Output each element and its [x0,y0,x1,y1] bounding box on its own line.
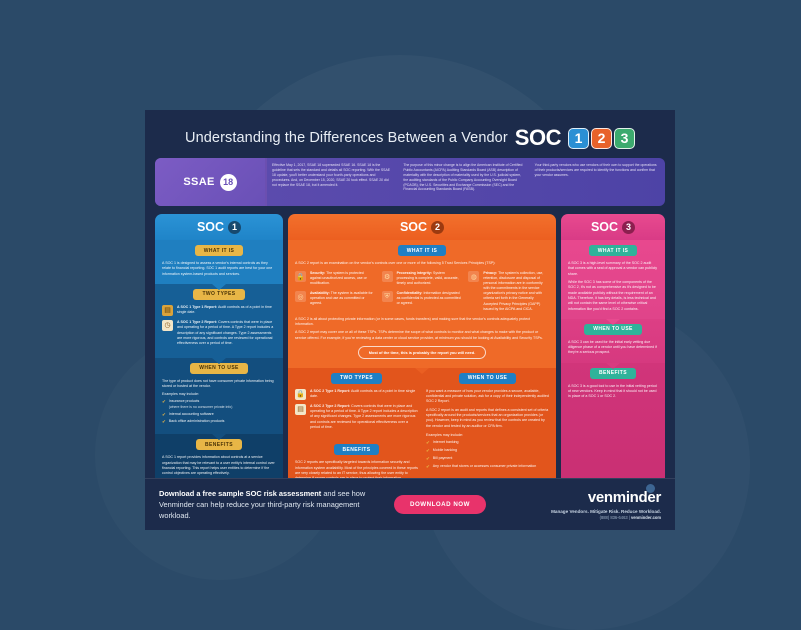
soc2-what-it-is: WHAT IT IS A SOC 2 report is an examinat… [288,240,556,368]
soc-number-badges: 1 2 3 [568,128,635,149]
soc3-when-to-use-text: A SOC 3 can be used for the initial earl… [568,340,658,356]
soc1-when-to-use-pill: WHEN TO USE [190,363,248,374]
ssae-badge: SSAE 18 [155,158,265,206]
soc1-two-types-pill: TWO TYPES [193,289,244,300]
ssae-number: 18 [220,174,237,191]
soc2-type2-title: A SOC 2 Type 2 Report: [310,404,350,408]
soc2-principles-grid: 🔒 Security: The system is protected agai… [295,271,549,311]
soc2-lower-grid: TWO TYPES 🔒 A SOC 2 Type 1 Report: Audit… [288,368,556,486]
column-soc2: SOC 2 WHAT IT IS A SOC 2 report is an ex… [288,214,556,486]
soc3-arrow-1 [606,319,620,325]
soc2-principles-col-3: ◍ Privacy: The system's collection, use,… [468,271,549,311]
ssae-label: SSAE [183,176,214,188]
column-soc3-number: 3 [622,221,635,234]
soc2-check-1-text: Internet banking [433,440,459,445]
soc2-principle-confidentiality: ⛨ Confidentiality: Information designate… [382,291,463,306]
soc2-when-to-use-pill: WHEN TO USE [459,373,517,384]
soc2-principle-confidentiality-name: Confidentiality: [397,291,423,295]
clock-document-icon: ◷ [162,320,173,331]
soc2-check-1: ✔ Internet banking [426,440,549,446]
soc2-what-it-is-pill: WHAT IT IS [398,245,447,256]
soc1-benefits-pill: BENEFITS [196,439,242,450]
soc1-what-it-is: WHAT IT IS A SOC 1 is designed to assess… [155,240,283,284]
check-icon: ✔ [426,456,430,462]
soc2-check-3-text: Bill payment [433,456,453,461]
soc3-benefits-pill: BENEFITS [590,368,636,379]
soc2-principles-col-2: ⚙ Processing Integrity: System processin… [382,271,463,311]
soc1-when-to-use-text: The type of product does not have consum… [162,379,276,390]
soc2-callout: Most of the time, this is probably the r… [358,346,487,359]
soc2-check-3: ✔ Bill payment [426,456,549,462]
check-icon: ✔ [426,448,430,454]
ssae-paragraph-1: Effective May 1, 2017, SSAE 18 supersede… [272,163,394,201]
soc1-check-1: ✔ Insurance products (where there is no … [162,399,276,409]
soc2-when-to-use-text-1: If you want a measure of how your vendor… [426,389,549,405]
soc-badge-1: 1 [568,128,589,149]
cta-text: Download a free sample SOC risk assessme… [159,488,374,521]
lock-icon: 🔒 [295,271,306,282]
soc3-benefits-text: A SOC 3 is a good tool to use in the ini… [568,384,658,400]
soc3-benefits: BENEFITS A SOC 3 is a good tool to use i… [561,363,665,486]
soc1-what-it-is-pill: WHAT IT IS [195,245,244,256]
brand-website[interactable]: venminder.com [631,515,661,520]
soc2-type1-title: A SOC 2 Type 1 Report: [310,389,350,393]
soc2-benefits: BENEFITS SOC 2 reports are specifically … [295,444,418,481]
column-soc2-header: SOC 2 [288,214,556,240]
column-soc1-number: 1 [228,221,241,234]
check-icon: ✔ [426,464,430,470]
infographic-poster: Understanding the Differences Between a … [145,110,675,530]
cta-headline: Download a free sample SOC risk assessme… [159,489,321,498]
soc1-two-types: TWO TYPES ▤ A SOC 1 Type 1 Report: Audit… [155,284,283,358]
footer-cta-bar: Download a free sample SOC risk assessme… [145,478,675,530]
soc2-principle-privacy: ◍ Privacy: The system's collection, use,… [468,271,549,311]
column-soc1-title: SOC [197,220,224,234]
soc3-what-it-is-text-1: A SOC 3 is a high-level summary of the S… [568,261,658,277]
check-icon: ✔ [162,412,166,418]
soc-badge-2: 2 [591,128,612,149]
soc2-principle-availability: ◎ Availability: The system is available … [295,291,376,306]
soc2-check-2: ✔ Mobile banking [426,448,549,454]
soc2-paragraph-2: A SOC 2 report may cover one or all of t… [295,330,549,341]
soc1-arrow-1 [212,284,226,290]
gauge-icon: ◎ [295,291,306,302]
soc1-arrow-3 [212,434,226,440]
column-soc3-title: SOC [591,220,618,234]
soc-columns: SOC 1 WHAT IT IS A SOC 1 is designed to … [145,214,675,486]
soc2-principle-privacy-name: Privacy: [483,271,497,275]
soc1-check-3: ✔ Back office administration products [162,419,276,425]
column-soc2-number: 2 [431,221,444,234]
soc1-examples-label: Examples may include: [162,392,199,396]
soc2-two-types: TWO TYPES 🔒 A SOC 2 Type 1 Report: Audit… [295,373,418,482]
soc3-what-it-is-text-2: While the SOC 3 has some of the componen… [568,280,658,312]
ssae-paragraph-2: The purpose of this minor change is to a… [403,163,525,201]
soc1-check-1-sub: (where there is no consumer private info… [169,405,233,409]
soc1-type2-row: ◷ A SOC 1 Type 2 Report: Covers controls… [162,320,276,347]
download-now-button[interactable]: DOWNLOAD NOW [394,495,486,514]
check-icon: ✔ [162,419,166,425]
document-icon: ▤ [162,305,173,316]
brand-phone: (888) 836-6463 [600,515,628,520]
soc1-check-3-text: Back office administration products [169,419,225,424]
soc2-principle-privacy-text: The system's collection, use, retention,… [483,271,543,310]
soc2-arrow-1 [415,368,429,374]
ssae-paragraph-3: Your third-party vendors who use vendors… [535,163,657,201]
soc2-check-4-text: Any vendor that stores or accesses consu… [433,464,536,469]
soc3-when-to-use: WHEN TO USE A SOC 3 can be used for the … [561,319,665,363]
logo-dot-icon [646,484,655,493]
soc2-paragraph-1: A SOC 2 is all about protecting private … [295,317,549,328]
soc1-arrow-2 [212,358,226,364]
brand-contact: (888) 836-6463 | venminder.com [551,515,661,520]
soc1-check-2-text: Internal accounting software [169,412,214,417]
clipboard-icon: ▤ [295,404,306,415]
soc2-principle-security: 🔒 Security: The system is protected agai… [295,271,376,286]
soc1-when-to-use: WHEN TO USE The type of product does not… [155,358,283,435]
soc2-two-types-pill: TWO TYPES [331,373,382,384]
column-soc3-header: SOC 3 [561,214,665,240]
soc2-principle-security-name: Security: [310,271,325,275]
soc-wordmark: SOC [515,127,561,149]
soc2-when-to-use-text-2: A SOC 2 report is an audit and reports t… [426,408,549,429]
check-icon: ✔ [426,440,430,446]
soc2-type1-row: 🔒 A SOC 2 Type 1 Report: Audit controls … [295,389,418,400]
soc2-check-4: ✔ Any vendor that stores or accesses con… [426,464,549,470]
soc1-benefits-text: A SOC 1 report provides information abou… [162,455,276,476]
soc1-what-it-is-text: A SOC 1 is designed to assess a vendor's… [162,261,276,277]
check-icon: ✔ [162,399,166,405]
column-soc1: SOC 1 WHAT IT IS A SOC 1 is designed to … [155,214,283,486]
lock-document-icon: 🔒 [295,389,306,400]
column-soc3: SOC 3 WHAT IT IS A SOC 3 is a high-level… [561,214,665,486]
soc2-intro-text: A SOC 2 report is an examination on the … [295,261,495,265]
soc2-principle-processing-integrity-name: Processing Integrity: [397,271,432,275]
soc2-type2-row: ▤ A SOC 2 Type 2 Report: Covers controls… [295,404,418,431]
soc2-principles-col-1: 🔒 Security: The system is protected agai… [295,271,376,311]
soc3-what-it-is: WHAT IT IS A SOC 3 is a high-level summa… [561,240,665,319]
soc2-check-2-text: Mobile banking [433,448,457,453]
soc2-examples-label: Examples may include: [426,433,463,437]
poster-title-row: Understanding the Differences Between a … [145,110,675,158]
soc1-type2-title: A SOC 1 Type 2 Report: [177,320,217,324]
soc2-benefits-pill: BENEFITS [334,444,380,455]
column-soc1-header: SOC 1 [155,214,283,240]
column-soc2-title: SOC [400,220,427,234]
page-title: Understanding the Differences Between a … [185,130,508,146]
soc1-check-1-text: Insurance products [169,399,200,403]
venminder-logo: venminder [588,489,661,506]
brand-tagline: Manage Vendors. Mitigate Risk. Reduce Wo… [551,509,661,514]
soc1-type1-title: A SOC 1 Type 1 Report: [177,305,217,309]
gear-check-icon: ⚙ [382,271,393,282]
user-lock-icon: ◍ [468,271,479,282]
soc3-arrow-2 [606,363,620,369]
soc-badge-3: 3 [614,128,635,149]
ssae-text-columns: Effective May 1, 2017, SSAE 18 supersede… [265,158,665,206]
soc2-when-to-use: WHEN TO USE If you want a measure of how… [426,373,549,482]
soc1-type1-row: ▤ A SOC 1 Type 1 Report: Audit controls … [162,305,276,316]
ssae-banner: SSAE 18 Effective May 1, 2017, SSAE 18 s… [155,158,665,206]
soc1-check-2: ✔ Internal accounting software [162,412,276,418]
soc2-lower: TWO TYPES 🔒 A SOC 2 Type 1 Report: Audit… [288,368,556,486]
soc2-principle-processing-integrity: ⚙ Processing Integrity: System processin… [382,271,463,286]
soc2-principle-availability-name: Availability: [310,291,330,295]
soc3-what-it-is-pill: WHAT IT IS [589,245,638,256]
shield-icon: ⛨ [382,291,393,302]
soc3-when-to-use-pill: WHEN TO USE [584,324,642,335]
venminder-brand: venminder Manage Vendors. Mitigate Risk.… [551,489,661,521]
